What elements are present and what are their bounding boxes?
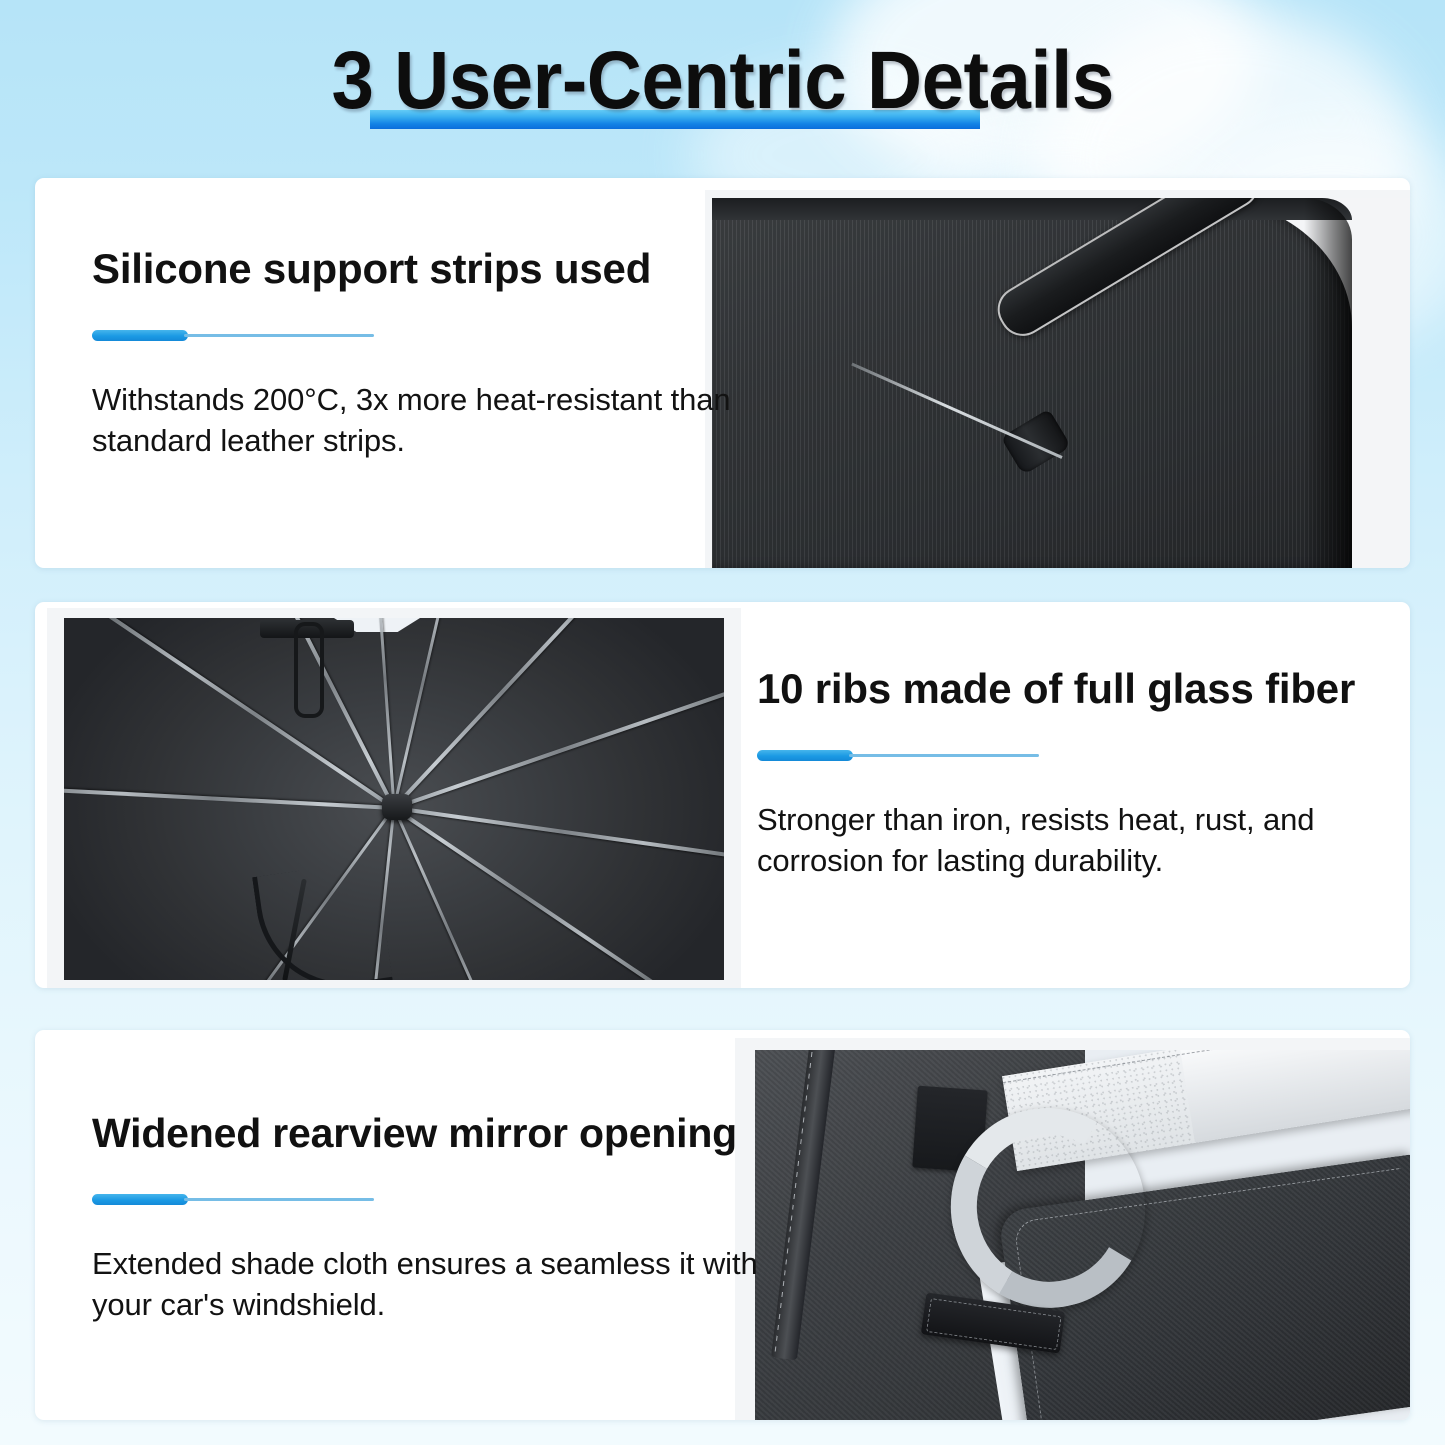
umbrella-ribs-photo	[64, 618, 724, 980]
sunshade-top-band	[712, 198, 1352, 220]
divider-rule	[184, 334, 374, 337]
feature-description-3: Extended shade cloth ensures a seamless …	[92, 1243, 772, 1325]
feature-image-panel-1	[705, 190, 1410, 568]
sunshade-rounded-edge	[1304, 198, 1352, 568]
divider-rule	[184, 1198, 374, 1201]
feature-card-3: Widened rearview mirror opening Extended…	[35, 1030, 1410, 1420]
feature-title-2: 10 ribs made of full glass fiber	[757, 664, 1402, 714]
divider-bar	[92, 330, 188, 341]
sunshade-fabric-panel	[712, 198, 1352, 568]
silicone-support-strip-photo	[712, 198, 1410, 568]
feature-text-2: 10 ribs made of full glass fiber Stronge…	[757, 664, 1402, 881]
divider-bar	[757, 750, 853, 761]
umbrella-handle-loop	[294, 622, 324, 718]
divider-rule	[849, 754, 1039, 757]
feature-image-panel-2	[47, 608, 741, 988]
feature-divider-1	[92, 330, 374, 341]
page-header: 3 User-Centric Details	[0, 0, 1445, 160]
mirror-opening-photo	[755, 1050, 1410, 1420]
divider-bar	[92, 1194, 188, 1205]
title-wrapper: 3 User-Centric Details	[0, 33, 1445, 129]
infographic-page: 3 User-Centric Details Silicone support …	[0, 0, 1445, 1445]
feature-image-panel-3	[735, 1038, 1410, 1420]
feature-description-1: Withstands 200°C, 3x more heat-resistant…	[92, 379, 732, 461]
page-title: 3 User-Centric Details	[331, 33, 1113, 129]
feature-text-3: Widened rearview mirror opening Extended…	[92, 1108, 772, 1325]
umbrella-hub	[382, 794, 412, 820]
feature-card-1: Silicone support strips used Withstands …	[35, 178, 1410, 568]
feature-title-3: Widened rearview mirror opening	[92, 1108, 772, 1158]
feature-title-1: Silicone support strips used	[92, 244, 732, 294]
feature-divider-3	[92, 1194, 374, 1205]
feature-card-2: 10 ribs made of full glass fiber Stronge…	[35, 602, 1410, 988]
feature-text-1: Silicone support strips used Withstands …	[92, 244, 732, 461]
feature-divider-2	[757, 750, 1039, 761]
feature-description-2: Stronger than iron, resists heat, rust, …	[757, 799, 1402, 881]
title-inner: 3 User-Centric Details	[302, 33, 1143, 129]
